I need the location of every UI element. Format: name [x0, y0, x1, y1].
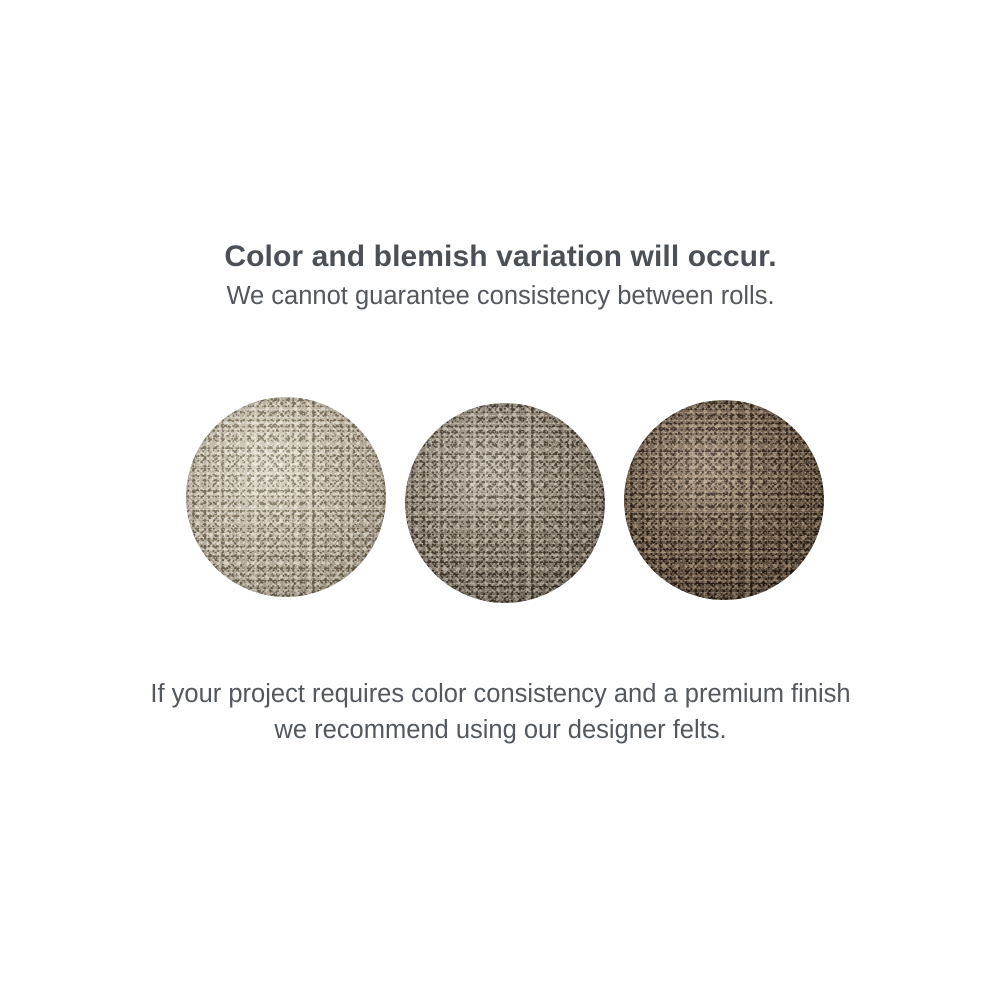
felt-edge-layer: [186, 397, 386, 597]
footer-block: If your project requires color consisten…: [0, 676, 1001, 748]
felt-swatch-row: [186, 396, 824, 604]
footer-line-2: we recommend using our designer felts.: [0, 712, 1001, 748]
felt-swatch-medium-grey-brown: [405, 403, 605, 603]
felt-swatch-dark-brown: [624, 400, 824, 600]
page-subtitle: We cannot guarantee consistency between …: [0, 280, 1001, 313]
page-title: Color and blemish variation will occur.: [0, 238, 1001, 276]
footer-line-1: If your project requires color consisten…: [0, 676, 1001, 712]
felt-edge-layer: [624, 400, 824, 600]
heading-block: Color and blemish variation will occur. …: [0, 238, 1001, 313]
felt-swatch-light-greige: [186, 397, 386, 597]
notice-canvas: Color and blemish variation will occur. …: [0, 0, 1001, 1001]
felt-edge-layer: [405, 403, 605, 603]
